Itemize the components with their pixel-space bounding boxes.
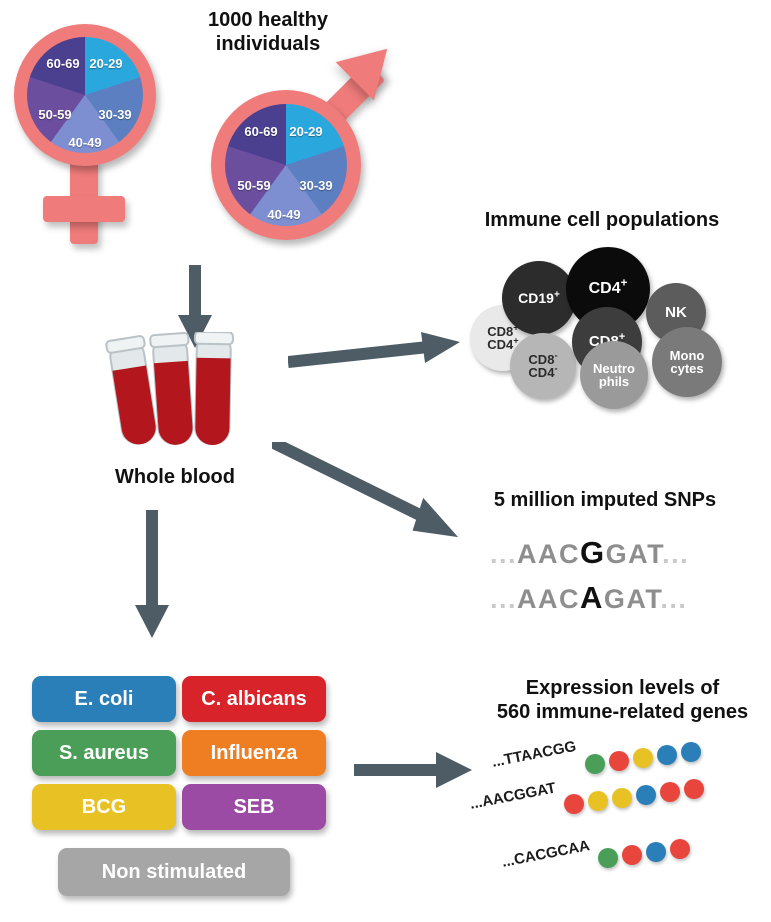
snp-suffix: GAT xyxy=(604,584,661,614)
male-slice-label-60-69: 60-69 xyxy=(234,124,288,139)
arrow-blood-to-stimuli xyxy=(127,510,177,640)
male-slice-label-30-39: 30-39 xyxy=(288,178,344,193)
arrow-stimuli-to-expression xyxy=(354,748,474,792)
immune-cell-label: CD19+ xyxy=(518,291,560,305)
gene-bead xyxy=(609,751,629,771)
immune-cell-label: CD8+CD4+ xyxy=(487,325,518,352)
snp-sequence-row-2: ...AACAGAT... xyxy=(490,580,687,616)
immune-cell-cluster: CD8+CD4+ CD19+ CD4+ CD8-CD4- CD8+ NK Neu… xyxy=(462,245,762,415)
immune-cell-label: Neutrophils xyxy=(593,362,635,389)
female-symbol-crossbar xyxy=(43,196,125,222)
expression-title: Expression levels of 560 immune-related … xyxy=(480,676,765,724)
gene-bead xyxy=(684,779,704,799)
snp-title: 5 million imputed SNPs xyxy=(455,488,755,512)
immune-cell-monocytes: Monocytes xyxy=(652,327,722,397)
gene-bead xyxy=(636,785,656,805)
snp-prefix: AAC xyxy=(517,584,580,614)
gene-expression-strands: ...TTAACGG ...AACGGAT ...CACGCAA xyxy=(470,748,770,898)
immune-cell-cd19p: CD19+ xyxy=(502,261,576,335)
male-symbol: 20-29 30-39 40-49 50-59 60-69 xyxy=(205,42,420,247)
immune-cell-cd8n-cd4n: CD8-CD4- xyxy=(510,333,576,399)
gene-strand-label-2: ...AACGGAT xyxy=(468,780,557,813)
gene-bead xyxy=(681,742,701,762)
whole-blood-label: Whole blood xyxy=(75,465,275,489)
stimulus-e-coli[interactable]: E. coli xyxy=(32,676,176,722)
immune-cell-label: CD4+ xyxy=(589,281,628,297)
stimulus-bcg[interactable]: BCG xyxy=(32,784,176,830)
immune-cell-populations-title: Immune cell populations xyxy=(452,208,752,232)
arrow-blood-to-snps xyxy=(272,442,472,552)
cohort-title-line1: 1000 healthy xyxy=(168,8,368,32)
snp-suffix: GAT xyxy=(606,539,663,569)
gene-bead xyxy=(660,782,680,802)
snp-sequence-row-1: ...AACGGAT... xyxy=(490,535,689,571)
stimulus-seb[interactable]: SEB xyxy=(182,784,326,830)
stimulus-influenza[interactable]: Influenza xyxy=(182,730,326,776)
blood-tubes xyxy=(92,332,262,457)
female-slice-label-30-39: 30-39 xyxy=(87,107,143,122)
immune-cell-label: CD8-CD4- xyxy=(528,353,557,380)
gene-bead xyxy=(646,842,666,862)
gene-bead xyxy=(564,794,584,814)
male-slice-label-50-59: 50-59 xyxy=(226,178,282,193)
immune-cell-label: NK xyxy=(665,305,687,320)
gene-bead xyxy=(622,845,642,865)
male-slice-label-40-49: 40-49 xyxy=(257,207,311,222)
female-symbol: 20-29 30-39 40-49 50-59 60-69 xyxy=(8,18,178,243)
snp-variant: G xyxy=(580,535,606,570)
snp-prefix: AAC xyxy=(517,539,580,569)
stimulus-c-albicans[interactable]: C. albicans xyxy=(182,676,326,722)
immune-cell-label: Monocytes xyxy=(670,349,705,376)
gene-strand-label-3: ...CACGCAA xyxy=(500,837,591,871)
gene-bead xyxy=(585,754,605,774)
snp-variant: A xyxy=(580,580,604,615)
female-slice-label-40-49: 40-49 xyxy=(58,135,112,150)
gene-bead xyxy=(633,748,653,768)
gene-bead xyxy=(670,839,690,859)
stimulus-non-stimulated[interactable]: Non stimulated xyxy=(58,848,290,896)
expression-title-line1: Expression levels of xyxy=(480,676,765,700)
gene-bead xyxy=(598,848,618,868)
stimulus-s-aureus[interactable]: S. aureus xyxy=(32,730,176,776)
expression-title-line2: 560 immune-related genes xyxy=(480,700,765,724)
female-slice-label-50-59: 50-59 xyxy=(27,107,83,122)
gene-bead xyxy=(612,788,632,808)
figure-root: { "figure": { "titles": { "cohort": "100… xyxy=(0,0,771,922)
female-slice-label-60-69: 60-69 xyxy=(36,56,90,71)
gene-bead xyxy=(657,745,677,765)
immune-cell-neutrophils: Neutrophils xyxy=(580,341,648,409)
gene-strand-label-1: ...TTAACGG xyxy=(490,738,577,771)
arrow-blood-to-immune-cells xyxy=(288,330,463,375)
gene-bead xyxy=(588,791,608,811)
